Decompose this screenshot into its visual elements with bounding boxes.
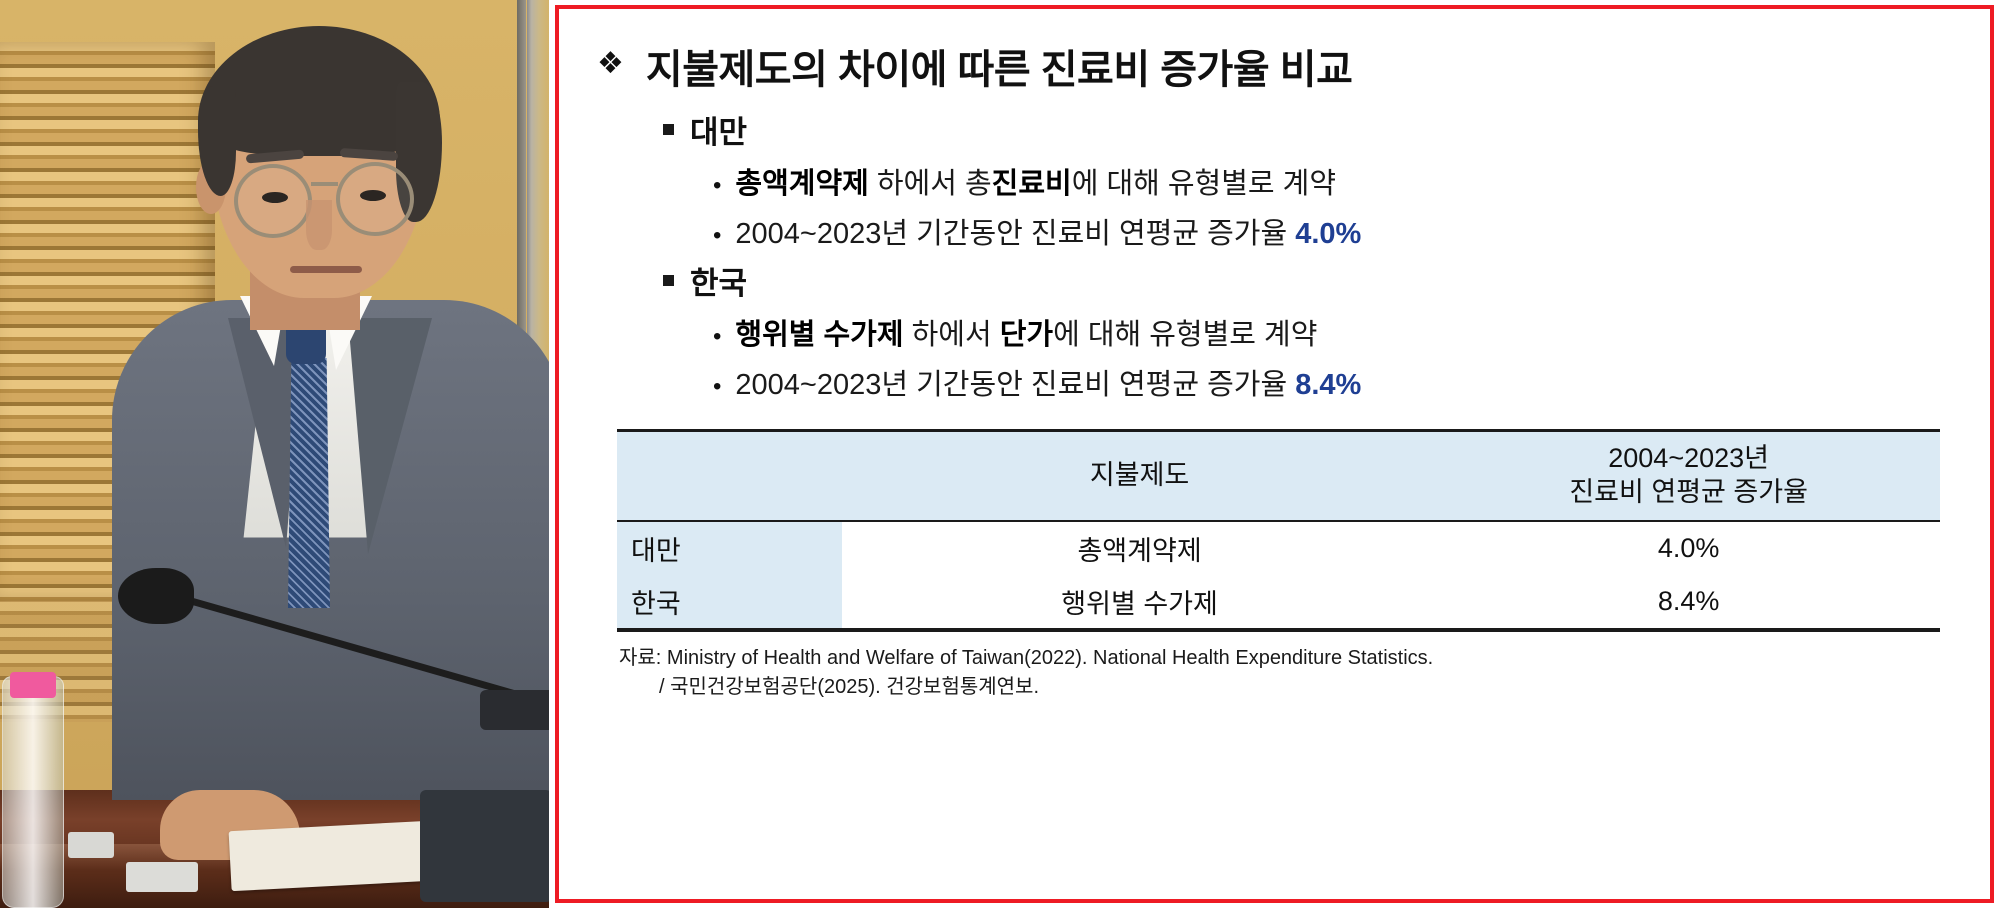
eye-left bbox=[262, 192, 288, 203]
comparison-table-wrapper: 지불제도 2004~2023년 진료비 연평균 증가율 대만 총액계약제 4.0… bbox=[617, 429, 1940, 632]
nose bbox=[306, 200, 332, 250]
desk-nameplate-a bbox=[68, 832, 114, 858]
growth-rate-korea: 8.4% bbox=[1295, 369, 1361, 401]
bullet-korea-1: • 행위별 수가제 하에서 단가에 대해 유형별로 계약 bbox=[713, 311, 1964, 353]
bullet-taiwan-1: • 총액계약제 하에서 총진료비에 대해 유형별로 계약 bbox=[713, 160, 1964, 202]
cell-system: 행위별 수가제 bbox=[842, 575, 1437, 630]
bullet-taiwan-2: • 2004~2023년 기간동안 진료비 연평균 증가율 4.0% bbox=[713, 210, 1964, 252]
eye-right bbox=[360, 190, 386, 201]
table-header-row: 지불제도 2004~2023년 진료비 연평균 증가율 bbox=[617, 431, 1940, 521]
table-row: 한국 행위별 수가제 8.4% bbox=[617, 575, 1940, 630]
bullet-text: 행위별 수가제 하에서 단가에 대해 유형별로 계약 bbox=[735, 311, 1317, 353]
microphone-base bbox=[480, 690, 549, 730]
comparison-table: 지불제도 2004~2023년 진료비 연평균 증가율 대만 총액계약제 4.0… bbox=[617, 429, 1940, 632]
cell-rate: 4.0% bbox=[1437, 521, 1940, 575]
section-heading-taiwan: 대만 bbox=[663, 107, 1964, 152]
source-line-2: / 국민건강보험공단(2025). 건강보험통계연보. bbox=[619, 673, 1964, 702]
section-label: 한국 bbox=[690, 258, 747, 303]
speaker-photo bbox=[0, 0, 549, 908]
cell-system: 총액계약제 bbox=[842, 521, 1437, 575]
section-label: 대만 bbox=[690, 107, 747, 152]
table-header-system: 지불제도 bbox=[842, 431, 1437, 521]
necktie bbox=[288, 358, 330, 608]
slide-title-row: ❖ 지불제도의 차이에 따른 진료비 증가율 비교 bbox=[597, 37, 1964, 95]
bullet-text: 2004~2023년 기간동안 진료비 연평균 증가율 8.4% bbox=[735, 361, 1361, 403]
bullet-text: 총액계약제 하에서 총진료비에 대해 유형별로 계약 bbox=[735, 160, 1336, 202]
water-bottle-cap bbox=[10, 672, 56, 698]
cell-region: 대만 bbox=[617, 521, 842, 575]
dot-bullet-icon: • bbox=[713, 375, 721, 399]
bullet-korea-2: • 2004~2023년 기간동안 진료비 연평균 증가율 8.4% bbox=[713, 361, 1964, 403]
source-line-1: 자료: Ministry of Health and Welfare of Ta… bbox=[619, 647, 1433, 669]
diamond-bullet-icon: ❖ bbox=[597, 49, 624, 79]
slide-pane: ❖ 지불제도의 차이에 따른 진료비 증가율 비교 대만 • 총액계약제 하에서… bbox=[549, 0, 2000, 908]
bullet-text: 2004~2023년 기간동안 진료비 연평균 증가율 4.0% bbox=[735, 210, 1361, 252]
cell-rate: 8.4% bbox=[1437, 575, 1940, 630]
dot-bullet-icon: • bbox=[713, 174, 721, 198]
square-bullet-icon bbox=[663, 275, 674, 286]
table-header-rate-line2: 진료비 연평균 증가율 bbox=[1569, 477, 1808, 507]
source-citation: 자료: Ministry of Health and Welfare of Ta… bbox=[619, 644, 1964, 702]
page-title: 지불제도의 차이에 따른 진료비 증가율 비교 bbox=[646, 37, 1352, 95]
dot-bullet-icon: • bbox=[713, 325, 721, 349]
table-row: 대만 총액계약제 4.0% bbox=[617, 521, 1940, 575]
desk-device bbox=[420, 790, 549, 902]
cell-region: 한국 bbox=[617, 575, 842, 630]
section-heading-korea: 한국 bbox=[663, 258, 1964, 303]
table-header-blank bbox=[617, 431, 842, 521]
growth-rate-taiwan: 4.0% bbox=[1295, 218, 1361, 250]
table-header: 지불제도 2004~2023년 진료비 연평균 증가율 bbox=[617, 431, 1940, 521]
mouth bbox=[290, 266, 362, 273]
open-notebook bbox=[229, 821, 432, 891]
presentation-slide: ❖ 지불제도의 차이에 따른 진료비 증가율 비교 대만 • 총액계약제 하에서… bbox=[555, 5, 1994, 903]
screenshot-root: ❖ 지불제도의 차이에 따른 진료비 증가율 비교 대만 • 총액계약제 하에서… bbox=[0, 0, 2000, 908]
table-header-rate: 2004~2023년 진료비 연평균 증가율 bbox=[1437, 431, 1940, 521]
square-bullet-icon bbox=[663, 124, 674, 135]
microphone-head bbox=[118, 568, 194, 624]
dot-bullet-icon: • bbox=[713, 224, 721, 248]
table-body: 대만 총액계약제 4.0% 한국 행위별 수가제 8.4% bbox=[617, 521, 1940, 630]
table-header-rate-line1: 2004~2023년 bbox=[1608, 443, 1769, 473]
water-bottle bbox=[2, 676, 64, 908]
eyeglasses-bridge bbox=[311, 182, 338, 186]
desk-nameplate-b bbox=[126, 862, 198, 892]
